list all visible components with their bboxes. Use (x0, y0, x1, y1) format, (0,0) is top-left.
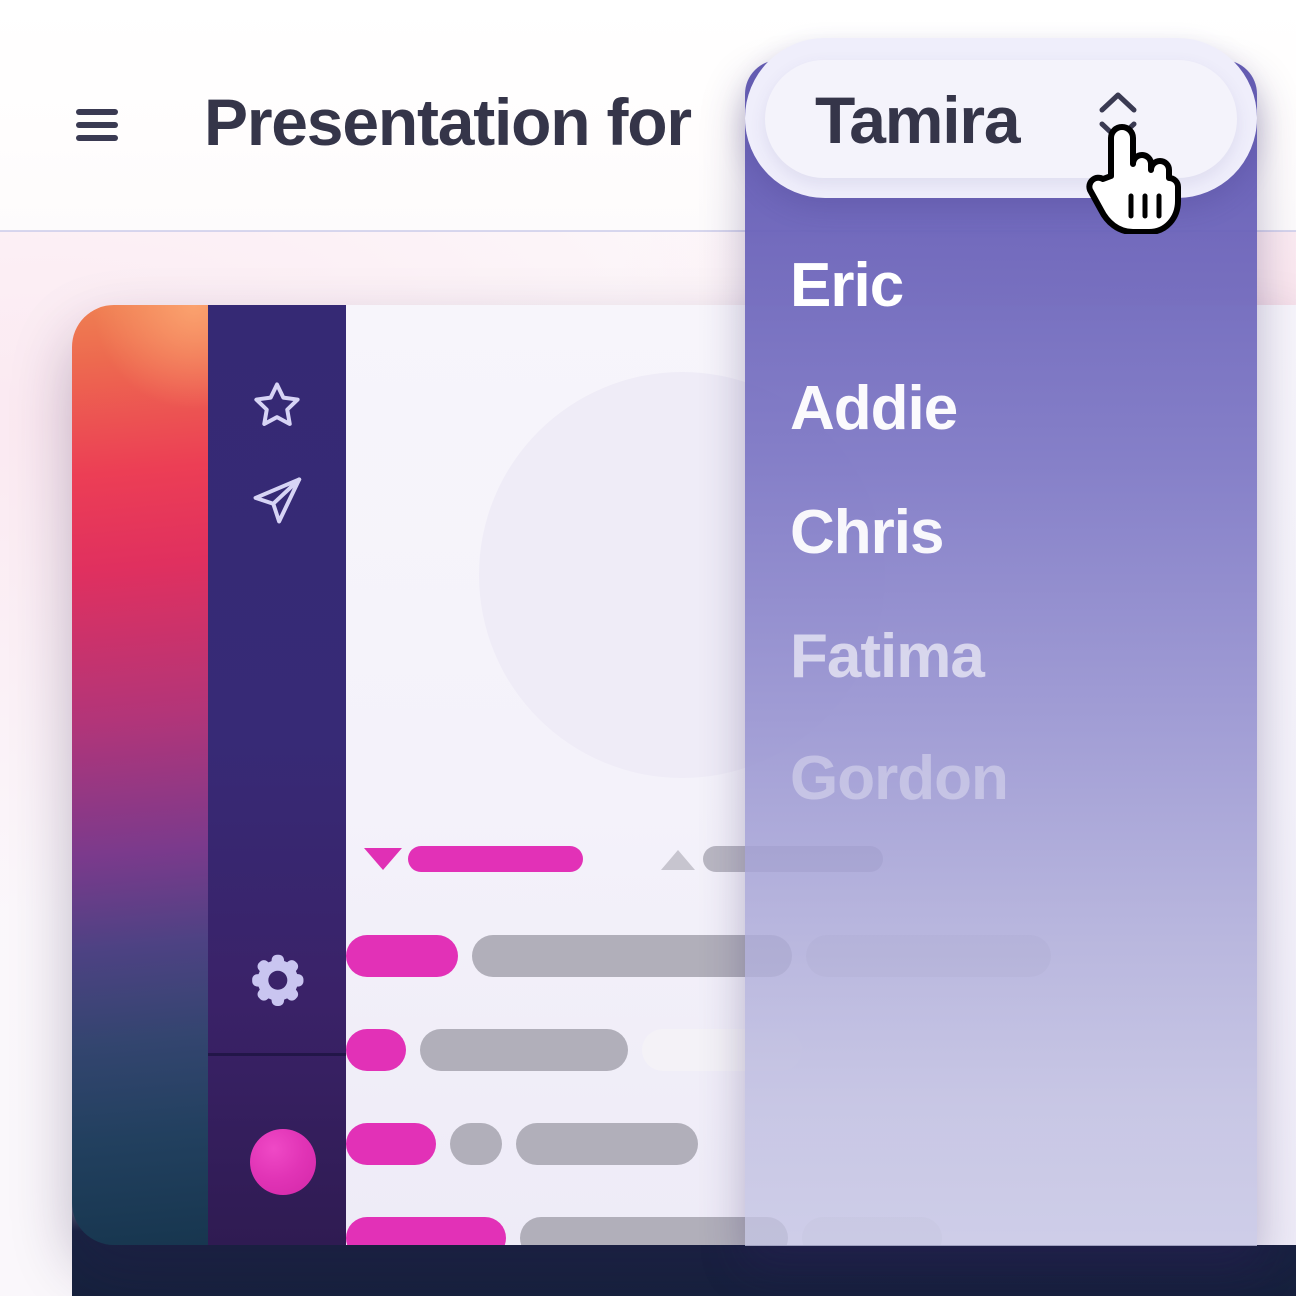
rail-highlight (72, 305, 208, 445)
gear-icon (247, 950, 307, 1010)
sidebar-divider (208, 1053, 346, 1056)
dropdown-option-gordon[interactable]: Gordon (790, 743, 1230, 814)
star-icon (249, 377, 305, 433)
row-chip (472, 935, 792, 977)
row-chip (346, 1217, 506, 1245)
legend-bar-pink (408, 846, 583, 872)
sidebar-item-settings[interactable] (208, 940, 346, 1020)
row-chip (450, 1123, 502, 1165)
chevron-up-down-icon[interactable] (1090, 86, 1146, 153)
person-select-value: Tamira (815, 82, 1019, 158)
dropdown-option-chris[interactable]: Chris (790, 497, 1230, 568)
triangle-down-icon[interactable] (364, 848, 402, 870)
send-icon (249, 472, 305, 528)
hamburger-menu-icon[interactable] (76, 103, 118, 147)
sidebar-item-favorites[interactable] (208, 365, 346, 445)
avatar[interactable] (250, 1129, 316, 1195)
row-chip (420, 1029, 628, 1071)
triangle-up-icon[interactable] (661, 850, 695, 870)
row-chip (346, 1029, 406, 1071)
sidebar-item-send[interactable] (208, 460, 346, 540)
page-title: Presentation for (204, 84, 691, 160)
select-dropdown-panel: Eric Addie Chris Fatima Gordon (745, 60, 1257, 1246)
dropdown-option-addie[interactable]: Addie (790, 373, 1230, 444)
dropdown-option-eric[interactable]: Eric (790, 250, 1230, 321)
dropdown-option-fatima[interactable]: Fatima (790, 621, 1230, 692)
row-chip (346, 1123, 436, 1165)
app-screenshot: Eric Addie Chris Fatima Gordon Presentat… (0, 0, 1296, 1296)
sidebar (208, 305, 346, 1245)
row-chip (516, 1123, 698, 1165)
row-chip (346, 935, 458, 977)
gradient-rail (72, 305, 208, 1245)
